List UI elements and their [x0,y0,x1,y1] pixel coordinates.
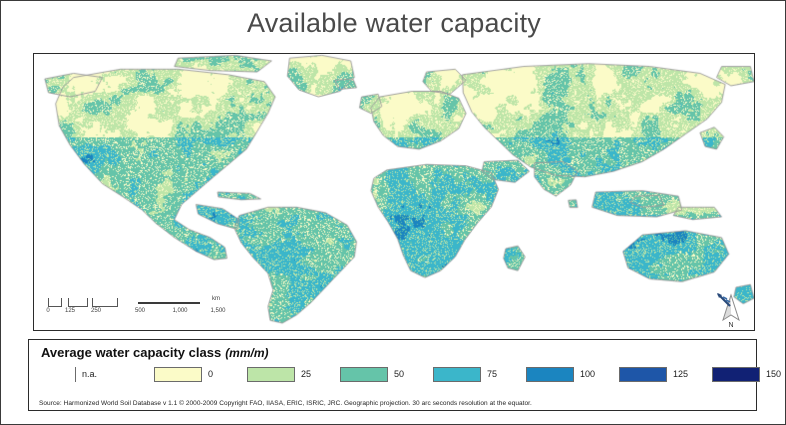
legend-swatch-25 [247,367,295,382]
legend-swatch-50 [340,367,388,382]
scale-tick-3: 500 [135,308,145,314]
legend-swatch-75 [433,367,481,382]
north-arrow-label: N [714,322,748,329]
legend-swatch-150 [712,367,760,382]
legend-label-125: 125 [667,369,688,379]
legend-label-na: n.a. [76,369,97,379]
legend-swatch-0 [154,367,202,382]
legend-label-25: 25 [295,369,311,379]
page-title: Available water capacity [1,3,786,43]
scale-tick-1: 125 [65,308,75,314]
legend-item-50[interactable]: 50 [340,365,404,383]
scale-bar: 0 125 250 500 1,000 1,500 km [42,292,257,326]
legend-swatch-100 [526,367,574,382]
scale-tick-5: 1,500 [210,308,225,314]
map-frame[interactable]: 0 125 250 500 1,000 1,500 km N [33,53,755,331]
source-caption: Source: Harmonized World Soil Database v… [39,400,751,407]
scale-bar-line [138,302,200,304]
legend-item-150[interactable]: 150 [712,365,781,383]
map-page: Available water capacity 0 125 250 500 1… [0,0,786,425]
legend-item-25[interactable]: 25 [247,365,311,383]
legend-label-150: 150 [760,369,781,379]
legend-label-100: 100 [574,369,595,379]
legend-label-50: 50 [388,369,404,379]
legend-label-0: 0 [202,369,213,379]
legend-item-125[interactable]: 125 [619,365,688,383]
legend-item-75[interactable]: 75 [433,365,497,383]
legend-swatch-125 [619,367,667,382]
legend-item-0[interactable]: 0 [154,365,213,383]
scale-tick-0: 0 [46,308,49,314]
legend-label-75: 75 [481,369,497,379]
scale-tick-2: 250 [91,308,101,314]
legend-item-na[interactable]: n.a. [75,365,97,383]
legend-title: Average water capacity class(mm/m) [41,345,269,360]
scale-tick-4: 1,000 [172,308,187,314]
scale-bar-boxes [48,298,126,307]
scale-bar-ticks: 0 125 250 500 1,000 1,500 [42,308,257,320]
north-arrow-icon: N [714,290,748,328]
legend-swatch-row: n.a. 0 25 50 75 100 [75,365,755,387]
legend-units: (mm/m) [221,346,268,360]
legend-title-text: Average water capacity class [41,345,221,360]
scale-bar-unit: km [212,296,220,302]
legend-panel: Average water capacity class(mm/m) n.a. … [28,339,757,411]
world-map-raster[interactable] [34,54,754,330]
legend-item-100[interactable]: 100 [526,365,595,383]
